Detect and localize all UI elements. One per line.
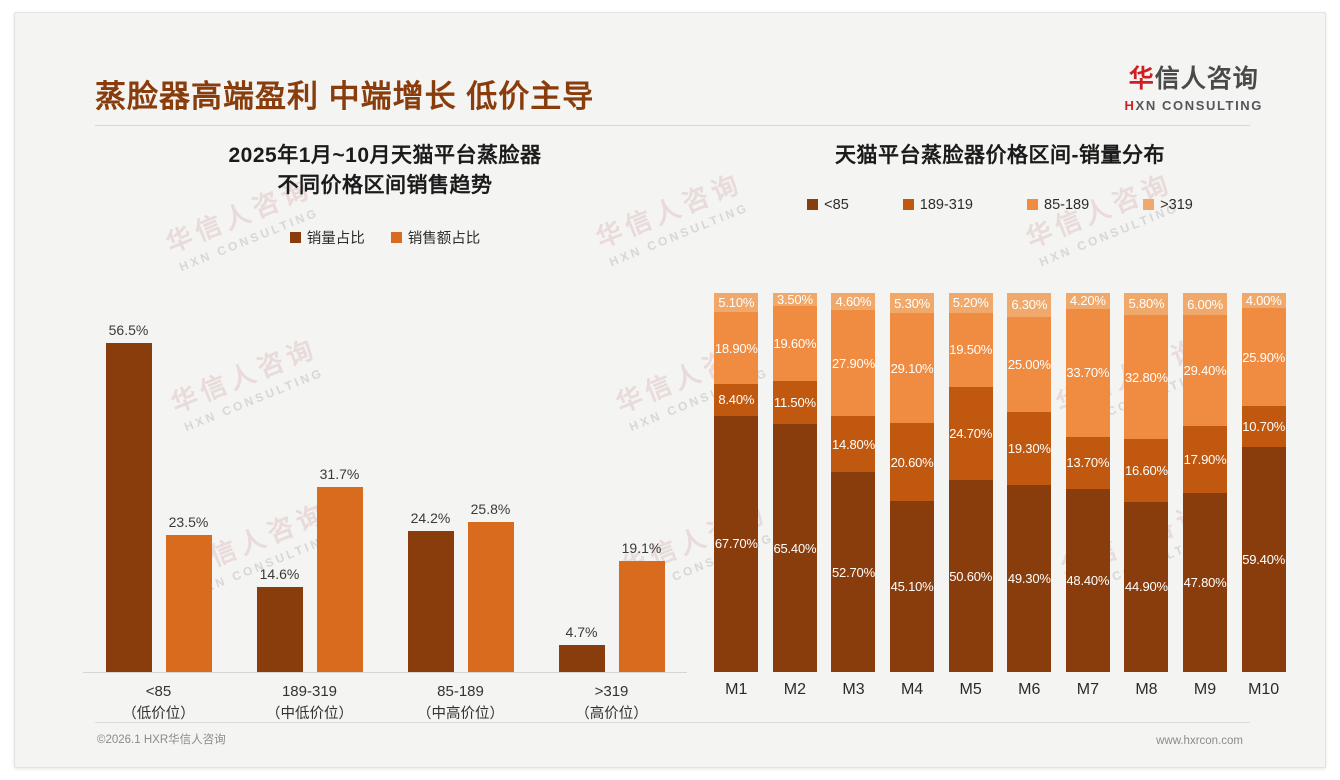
bar-value-label: 4.7% bbox=[566, 624, 598, 640]
stack-segment-label: 67.70% bbox=[715, 536, 758, 551]
stack-segment[interactable]: 10.70% bbox=[1242, 406, 1286, 447]
bar-rect[interactable] bbox=[619, 561, 665, 672]
bar-value-label: 56.5% bbox=[109, 322, 149, 338]
stack-segment-label: 4.20% bbox=[1070, 293, 1106, 308]
stack-segment[interactable]: 19.50% bbox=[949, 313, 993, 387]
logo-chinese-rest: 信人咨询 bbox=[1155, 65, 1259, 93]
stack-segment[interactable]: 67.70% bbox=[714, 416, 758, 672]
bar-column[interactable]: 4.7% bbox=[559, 293, 605, 672]
bar-group-container: 56.5%23.5%14.6%31.7%24.2%25.8%4.7%19.1% bbox=[83, 293, 687, 672]
stack-segment-label: 10.70% bbox=[1242, 419, 1285, 434]
stack-segment[interactable]: 33.70% bbox=[1066, 309, 1110, 437]
x-axis-label: M2 bbox=[766, 681, 825, 699]
legend-swatch-icon bbox=[807, 199, 818, 210]
x-axis-label: M7 bbox=[1059, 681, 1118, 699]
x-axis-label-main: 189-319 bbox=[282, 683, 337, 700]
stacked-bar[interactable]: 4.20%33.70%13.70%48.40% bbox=[1066, 293, 1110, 672]
legend-label: 85-189 bbox=[1044, 197, 1089, 213]
bar-value-label: 14.6% bbox=[260, 566, 300, 582]
legend-item[interactable]: <85 bbox=[807, 197, 849, 213]
stack-segment[interactable]: 5.80% bbox=[1124, 293, 1168, 315]
legend-label: 销售额占比 bbox=[408, 227, 481, 248]
bar-rect[interactable] bbox=[468, 522, 514, 672]
stack-segment-label: 45.10% bbox=[891, 579, 934, 594]
stack-segment-label: 14.80% bbox=[832, 437, 875, 452]
logo-chinese-text: 华信人咨询 bbox=[1125, 67, 1263, 92]
stack-segment[interactable]: 50.60% bbox=[949, 480, 993, 672]
stacked-bar[interactable]: 5.10%18.90%8.40%67.70% bbox=[714, 293, 758, 672]
stack-segment[interactable]: 59.40% bbox=[1242, 447, 1286, 672]
x-axis-label-main: >319 bbox=[595, 683, 629, 700]
bar-value-label: 25.8% bbox=[471, 501, 511, 517]
stack-segment[interactable]: 44.90% bbox=[1124, 502, 1168, 672]
chart-panel-right: 天猫平台蒸脸器价格区间-销量分布 <85 189-319 85-189 >319… bbox=[695, 141, 1305, 741]
stack-segment-label: 8.40% bbox=[718, 392, 754, 407]
bar-column[interactable]: 25.8% bbox=[468, 293, 514, 672]
stack-column: 5.20%19.50%24.70%50.60% bbox=[941, 293, 1000, 672]
x-axis-label: 85-189（中高价位） bbox=[385, 681, 536, 725]
legend-swatch-icon bbox=[290, 232, 301, 243]
chart-title-left-line2: 不同价格区间销售趋势 bbox=[65, 171, 705, 201]
stack-segment-label: 20.60% bbox=[891, 455, 934, 470]
stacked-bar-plot: 5.10%18.90%8.40%67.70%3.50%19.60%11.50%6… bbox=[707, 293, 1293, 673]
stack-column: 5.80%32.80%16.60%44.90% bbox=[1117, 293, 1176, 672]
bar-rect[interactable] bbox=[166, 535, 212, 672]
stack-segment-label: 32.80% bbox=[1125, 370, 1168, 385]
stack-segment-label: 18.90% bbox=[715, 341, 758, 356]
legend-swatch-icon bbox=[391, 232, 402, 243]
x-axis-label: M6 bbox=[1000, 681, 1059, 699]
stacked-bar[interactable]: 5.20%19.50%24.70%50.60% bbox=[949, 293, 993, 672]
legend-item[interactable]: 85-189 bbox=[1027, 197, 1089, 213]
x-axis-labels-left: <85（低价位）189-319（中低价位）85-189（中高价位）>319（高价… bbox=[83, 681, 687, 725]
stack-segment[interactable]: 5.10% bbox=[714, 293, 758, 312]
stack-segment-label: 16.60% bbox=[1125, 463, 1168, 478]
x-axis-label: M9 bbox=[1176, 681, 1235, 699]
stacked-bar[interactable]: 6.30%25.00%19.30%49.30% bbox=[1007, 293, 1051, 672]
x-axis-label: M5 bbox=[941, 681, 1000, 699]
stack-segment[interactable]: 16.60% bbox=[1124, 439, 1168, 502]
bar-group: 14.6%31.7% bbox=[234, 293, 385, 672]
stack-segment-label: 19.50% bbox=[949, 342, 992, 357]
bar-column[interactable]: 14.6% bbox=[257, 293, 303, 672]
stack-segment[interactable]: 3.50% bbox=[773, 293, 817, 306]
x-axis-label-main: <85 bbox=[146, 683, 171, 700]
logo-english-text: HXN CONSULTING bbox=[1125, 99, 1263, 112]
x-axis-label: M3 bbox=[824, 681, 883, 699]
stack-segment-label: 52.70% bbox=[832, 565, 875, 580]
stack-segment-label: 29.40% bbox=[1184, 363, 1227, 378]
stack-segment-label: 25.90% bbox=[1242, 350, 1285, 365]
x-axis-label: M8 bbox=[1117, 681, 1176, 699]
legend-label: >319 bbox=[1160, 197, 1193, 213]
chart-panel-left: 2025年1月~10月天猫平台蒸脸器 不同价格区间销售趋势 销量占比 销售额占比… bbox=[65, 141, 705, 741]
x-axis-labels-right: M1M2M3M4M5M6M7M8M9M10 bbox=[707, 681, 1293, 699]
bar-rect[interactable] bbox=[559, 645, 605, 672]
stack-segment[interactable]: 19.60% bbox=[773, 306, 817, 380]
stack-segment[interactable]: 52.70% bbox=[831, 472, 875, 672]
legend-swatch-icon bbox=[1027, 199, 1038, 210]
stack-segment[interactable]: 29.40% bbox=[1183, 315, 1227, 425]
stack-column: 6.30%25.00%19.30%49.30% bbox=[1000, 293, 1059, 672]
stack-segment[interactable]: 65.40% bbox=[773, 424, 817, 672]
stack-segment[interactable]: 4.60% bbox=[831, 293, 875, 310]
legend-item[interactable]: 189-319 bbox=[903, 197, 973, 213]
stack-segment-label: 5.30% bbox=[894, 296, 930, 311]
x-axis-label-main: 85-189 bbox=[437, 683, 484, 700]
bar-column[interactable]: 56.5% bbox=[106, 293, 152, 672]
stacked-bar[interactable]: 4.00%25.90%10.70%59.40% bbox=[1242, 293, 1286, 672]
stack-segment[interactable]: 25.90% bbox=[1242, 308, 1286, 406]
stack-column: 4.00%25.90%10.70%59.40% bbox=[1234, 293, 1293, 672]
legend-item[interactable]: >319 bbox=[1143, 197, 1193, 213]
stacked-bar[interactable]: 5.30%29.10%20.60%45.10% bbox=[890, 293, 934, 672]
legend-label: 189-319 bbox=[920, 197, 973, 213]
legend-item[interactable]: 销售额占比 bbox=[391, 227, 481, 248]
stack-segment[interactable]: 4.20% bbox=[1066, 293, 1110, 309]
stack-segment-label: 5.20% bbox=[953, 295, 989, 310]
stack-column: 5.10%18.90%8.40%67.70% bbox=[707, 293, 766, 672]
stack-column: 3.50%19.60%11.50%65.40% bbox=[766, 293, 825, 672]
stack-segment[interactable]: 27.90% bbox=[831, 310, 875, 416]
stack-segment-label: 3.50% bbox=[777, 292, 813, 307]
x-axis-label: M10 bbox=[1234, 681, 1293, 699]
stack-segment-label: 50.60% bbox=[949, 569, 992, 584]
x-axis-label: 189-319（中低价位） bbox=[234, 681, 385, 725]
stacked-bar[interactable]: 5.80%32.80%16.60%44.90% bbox=[1124, 293, 1168, 672]
stack-column: 6.00%29.40%17.90%47.80% bbox=[1176, 293, 1235, 672]
stack-segment-label: 4.60% bbox=[836, 294, 872, 309]
stack-segment-label: 17.90% bbox=[1184, 452, 1227, 467]
stack-segment-label: 49.30% bbox=[1008, 571, 1051, 586]
stack-segment-label: 48.40% bbox=[1066, 573, 1109, 588]
x-axis-label: <85（低价位） bbox=[83, 681, 234, 725]
legend-label: 销量占比 bbox=[307, 227, 365, 248]
stack-segment[interactable]: 8.40% bbox=[714, 384, 758, 416]
logo-english-rest: XN CONSULTING bbox=[1136, 98, 1263, 113]
slide-header: 蒸脸器高端盈利 中端增长 低价主导 华信人咨询 HXN CONSULTING bbox=[15, 13, 1325, 121]
legend-label: <85 bbox=[824, 197, 849, 213]
stack-segment[interactable]: 11.50% bbox=[773, 381, 817, 425]
footer-website[interactable]: www.hxrcon.com bbox=[1156, 735, 1243, 747]
stack-segment-label: 19.30% bbox=[1008, 441, 1051, 456]
footer-copyright: ©2026.1 HXR华信人咨询 bbox=[97, 731, 226, 747]
stack-segment-label: 19.60% bbox=[773, 336, 816, 351]
bar-value-label: 24.2% bbox=[411, 510, 451, 526]
stacked-bar[interactable]: 4.60%27.90%14.80%52.70% bbox=[831, 293, 875, 672]
bar-column[interactable]: 23.5% bbox=[166, 293, 212, 672]
stack-segment[interactable]: 6.00% bbox=[1183, 293, 1227, 315]
header-divider bbox=[95, 125, 1250, 126]
stack-segment[interactable]: 18.90% bbox=[714, 312, 758, 384]
stack-segment-label: 33.70% bbox=[1066, 365, 1109, 380]
bar-value-label: 31.7% bbox=[320, 466, 360, 482]
stack-segment[interactable]: 48.40% bbox=[1066, 489, 1110, 672]
x-axis-label: M4 bbox=[883, 681, 942, 699]
stack-segment-label: 65.40% bbox=[773, 541, 816, 556]
bar-column[interactable]: 19.1% bbox=[619, 293, 665, 672]
bar-rect[interactable] bbox=[106, 343, 152, 672]
stack-segment-label: 5.10% bbox=[718, 295, 754, 310]
stack-segment[interactable]: 4.00% bbox=[1242, 293, 1286, 308]
x-axis-label: M1 bbox=[707, 681, 766, 699]
stack-column: 4.20%33.70%13.70%48.40% bbox=[1059, 293, 1118, 672]
slide-canvas: 华信人咨询HXN CONSULTING 华信人咨询HXN CONSULTING … bbox=[14, 12, 1326, 768]
bar-column[interactable]: 31.7% bbox=[317, 293, 363, 672]
x-axis-line bbox=[83, 672, 687, 673]
bar-rect[interactable] bbox=[408, 531, 454, 672]
stack-segment-label: 27.90% bbox=[832, 356, 875, 371]
stacked-bar[interactable]: 3.50%19.60%11.50%65.40% bbox=[773, 293, 817, 672]
stack-segment[interactable]: 47.80% bbox=[1183, 493, 1227, 672]
chart-title-left-line1: 2025年1月~10月天猫平台蒸脸器 bbox=[228, 144, 541, 167]
stack-segment[interactable]: 20.60% bbox=[890, 423, 934, 501]
bar-rect[interactable] bbox=[257, 587, 303, 672]
page-title: 蒸脸器高端盈利 中端增长 低价主导 bbox=[95, 71, 594, 116]
stack-container: 5.10%18.90%8.40%67.70%3.50%19.60%11.50%6… bbox=[707, 293, 1293, 672]
stack-segment-label: 5.80% bbox=[1129, 296, 1165, 311]
stack-segment-label: 25.00% bbox=[1008, 357, 1051, 372]
bar-rect[interactable] bbox=[317, 487, 363, 672]
stack-segment[interactable]: 45.10% bbox=[890, 501, 934, 672]
stack-column: 5.30%29.10%20.60%45.10% bbox=[883, 293, 942, 672]
stack-segment[interactable]: 19.30% bbox=[1007, 412, 1051, 485]
legend-item[interactable]: 销量占比 bbox=[290, 227, 365, 248]
stack-segment[interactable]: 6.30% bbox=[1007, 293, 1051, 317]
legend-swatch-icon bbox=[903, 199, 914, 210]
stacked-bar[interactable]: 6.00%29.40%17.90%47.80% bbox=[1183, 293, 1227, 672]
stack-segment[interactable]: 25.00% bbox=[1007, 317, 1051, 412]
stack-segment-label: 4.00% bbox=[1246, 293, 1282, 308]
stack-segment-label: 47.80% bbox=[1184, 575, 1227, 590]
stack-segment-label: 44.90% bbox=[1125, 579, 1168, 594]
chart-legend-right: <85 189-319 85-189 >319 bbox=[695, 197, 1305, 213]
stack-segment-label: 29.10% bbox=[891, 361, 934, 376]
stack-segment-label: 24.70% bbox=[949, 426, 992, 441]
stack-segment[interactable]: 29.10% bbox=[890, 313, 934, 423]
bar-value-label: 23.5% bbox=[169, 514, 209, 530]
stack-segment[interactable]: 49.30% bbox=[1007, 485, 1051, 672]
stack-segment-label: 11.50% bbox=[774, 395, 816, 410]
stack-segment[interactable]: 24.70% bbox=[949, 387, 993, 481]
stack-segment-label: 59.40% bbox=[1242, 552, 1285, 567]
logo-char-h: H bbox=[1125, 98, 1136, 113]
stack-segment[interactable]: 5.20% bbox=[949, 293, 993, 313]
stack-segment[interactable]: 5.30% bbox=[890, 293, 934, 313]
stack-segment-label: 6.30% bbox=[1011, 297, 1047, 312]
bar-column[interactable]: 24.2% bbox=[408, 293, 454, 672]
bar-group: 56.5%23.5% bbox=[83, 293, 234, 672]
grouped-bar-plot: 56.5%23.5%14.6%31.7%24.2%25.8%4.7%19.1% bbox=[83, 293, 687, 673]
chart-title-left: 2025年1月~10月天猫平台蒸脸器 不同价格区间销售趋势 bbox=[65, 141, 705, 201]
stack-segment[interactable]: 32.80% bbox=[1124, 315, 1168, 439]
company-logo: 华信人咨询 HXN CONSULTING bbox=[1125, 67, 1263, 112]
logo-char-hua: 华 bbox=[1129, 65, 1155, 93]
bar-group: 4.7%19.1% bbox=[536, 293, 687, 672]
stack-column: 4.60%27.90%14.80%52.70% bbox=[824, 293, 883, 672]
bar-group: 24.2%25.8% bbox=[385, 293, 536, 672]
stack-segment[interactable]: 17.90% bbox=[1183, 426, 1227, 493]
stack-segment-label: 13.70% bbox=[1066, 455, 1109, 470]
chart-legend-left: 销量占比 销售额占比 bbox=[65, 227, 705, 248]
legend-swatch-icon bbox=[1143, 199, 1154, 210]
bar-value-label: 19.1% bbox=[622, 540, 662, 556]
chart-title-right: 天猫平台蒸脸器价格区间-销量分布 bbox=[695, 141, 1305, 171]
stack-segment[interactable]: 14.80% bbox=[831, 416, 875, 472]
footer-divider bbox=[95, 722, 1250, 723]
x-axis-label: >319（高价位） bbox=[536, 681, 687, 725]
stack-segment-label: 6.00% bbox=[1187, 297, 1223, 312]
stack-segment[interactable]: 13.70% bbox=[1066, 437, 1110, 489]
chart-title-right-line1: 天猫平台蒸脸器价格区间-销量分布 bbox=[835, 144, 1165, 167]
